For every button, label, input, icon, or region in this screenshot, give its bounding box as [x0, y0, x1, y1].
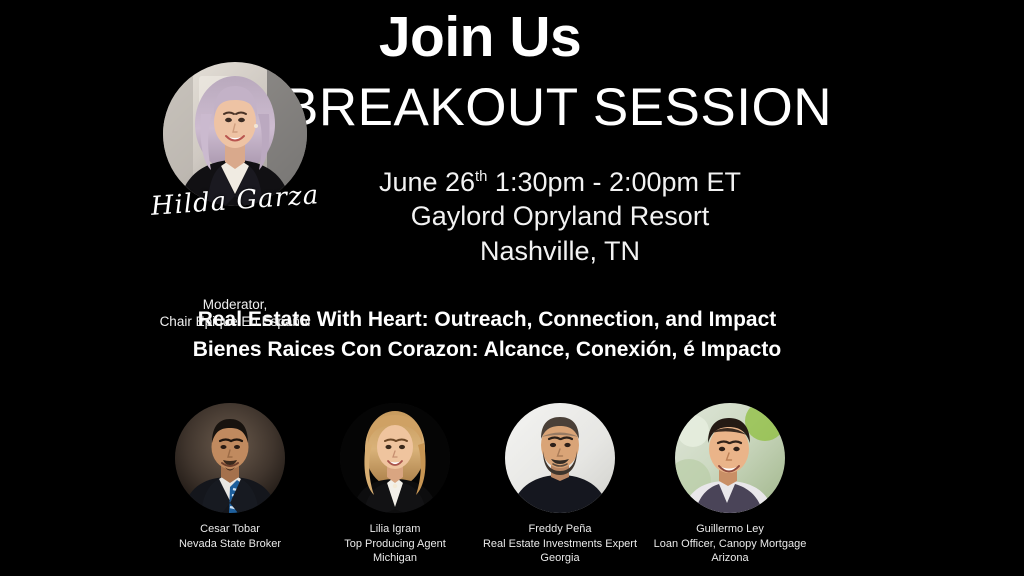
speaker-name: Lilia Igram	[305, 522, 485, 537]
speaker-list: Cesar Tobar Nevada State Broker	[0, 403, 1024, 573]
headshot-lilia-igram-image	[340, 403, 450, 513]
moderator-role: Moderator, Chair Epique En Español	[120, 296, 350, 331]
event-date: June 26	[379, 167, 475, 197]
list-item: Guillermo Ley Loan Officer, Canopy Mortg…	[640, 403, 820, 566]
event-city: Nashville, TN	[290, 234, 830, 268]
speaker-location: Michigan	[305, 551, 485, 566]
avatar	[175, 403, 285, 513]
avatar	[163, 62, 307, 206]
avatar	[505, 403, 615, 513]
date-ordinal-suffix: th	[475, 169, 487, 185]
page-title: Join Us	[0, 8, 960, 68]
moderator-block: Hilda Garza Moderator, Chair Epique En E…	[120, 62, 350, 206]
list-item: Lilia Igram Top Producing Agent Michigan	[305, 403, 485, 566]
headshot-freddy-pena-image	[505, 403, 615, 513]
headshot-hilda-garza-image	[163, 62, 307, 206]
speaker-name: Guillermo Ley	[640, 522, 820, 537]
speaker-title: Loan Officer, Canopy Mortgage	[640, 537, 820, 552]
event-datetime-line: June 26th 1:30pm - 2:00pm ET	[290, 165, 830, 199]
headshot-guillermo-ley-image	[675, 403, 785, 513]
list-item: Freddy Peña Real Estate Investments Expe…	[470, 403, 650, 566]
presentation-slide: Join Us BREAKOUT SESSION June 26th 1:30p…	[0, 0, 1024, 576]
speaker-caption: Cesar Tobar Nevada State Broker	[140, 522, 320, 551]
speaker-location: Arizona	[640, 551, 820, 566]
speaker-caption: Guillermo Ley Loan Officer, Canopy Mortg…	[640, 522, 820, 566]
speaker-title: Top Producing Agent	[305, 537, 485, 552]
event-time: 1:30pm - 2:00pm ET	[487, 167, 741, 197]
event-venue: Gaylord Opryland Resort	[290, 199, 830, 233]
moderator-role-line-1: Moderator,	[120, 296, 350, 313]
avatar	[675, 403, 785, 513]
speaker-title: Real Estate Investments Expert	[470, 537, 650, 552]
session-title-spanish: Bienes Raices Con Corazon: Alcance, Cone…	[92, 335, 882, 365]
headshot-cesar-tobar-image	[175, 403, 285, 513]
speaker-location: Georgia	[470, 551, 650, 566]
speaker-caption: Freddy Peña Real Estate Investments Expe…	[470, 522, 650, 566]
speaker-name: Cesar Tobar	[140, 522, 320, 537]
event-details: June 26th 1:30pm - 2:00pm ET Gaylord Opr…	[290, 165, 830, 268]
speaker-name: Freddy Peña	[470, 522, 650, 537]
speaker-title: Nevada State Broker	[140, 537, 320, 552]
avatar	[340, 403, 450, 513]
speaker-caption: Lilia Igram Top Producing Agent Michigan	[305, 522, 485, 566]
moderator-role-line-2: Chair Epique En Español	[120, 313, 350, 330]
list-item: Cesar Tobar Nevada State Broker	[140, 403, 320, 551]
